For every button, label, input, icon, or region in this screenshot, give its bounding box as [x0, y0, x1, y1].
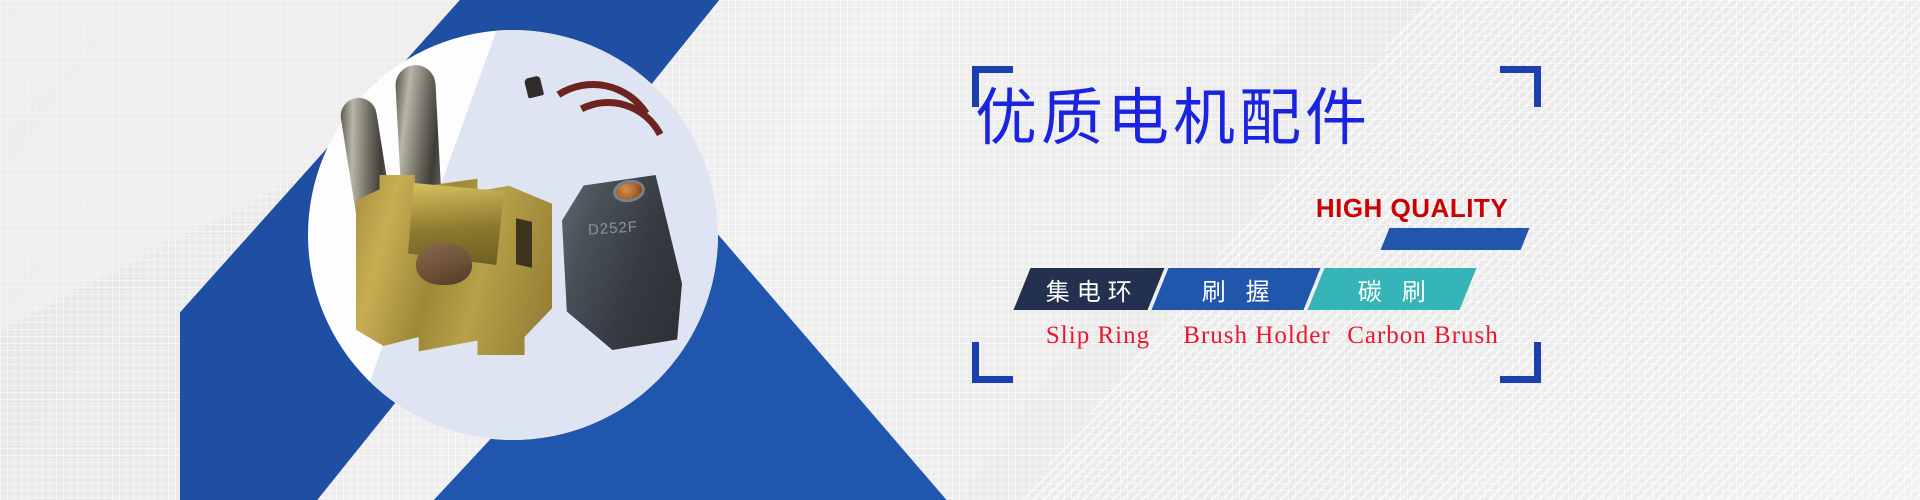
wire-terminal-icon [524, 75, 544, 98]
frame-corner-bottom-right-icon [1500, 342, 1541, 383]
tab-brush-holder-english: Brush Holder [1174, 322, 1340, 350]
frame-corner-bottom-left-icon [972, 342, 1013, 383]
brush-holder-slot [516, 218, 532, 267]
headline-chinese: 优质电机配件 [975, 88, 1371, 150]
category-tabs-english: Slip Ring Brush Holder Carbon Brush [1022, 322, 1506, 350]
tab-slip-ring-label: 集电环 [1039, 272, 1139, 307]
tab-carbon-brush-english: Carbon Brush [1340, 322, 1506, 350]
promo-banner: D252F 优质电机配件 HIGH QUALITY 集电环 刷 握 碳 刷 Sl… [0, 0, 1920, 500]
accent-bar [1381, 228, 1530, 250]
product-part-number: D252F [587, 218, 638, 238]
product-photo: D252F [330, 55, 730, 385]
tab-brush-holder-label: 刷 握 [1195, 272, 1277, 307]
subheadline-english: HIGH QUALITY [1316, 193, 1508, 224]
tab-brush-holder[interactable]: 刷 握 [1152, 268, 1321, 310]
carbon-brush-block [562, 175, 682, 350]
tab-carbon-brush-label: 碳 刷 [1351, 272, 1433, 307]
frame-corner-top-right-icon [1500, 66, 1541, 107]
brush-holder-inner-roller [416, 243, 472, 285]
tab-slip-ring-english: Slip Ring [1022, 322, 1174, 350]
tab-carbon-brush[interactable]: 碳 刷 [1308, 268, 1477, 310]
category-tabs: 集电环 刷 握 碳 刷 [1022, 268, 1468, 310]
tab-slip-ring[interactable]: 集电环 [1014, 268, 1165, 310]
